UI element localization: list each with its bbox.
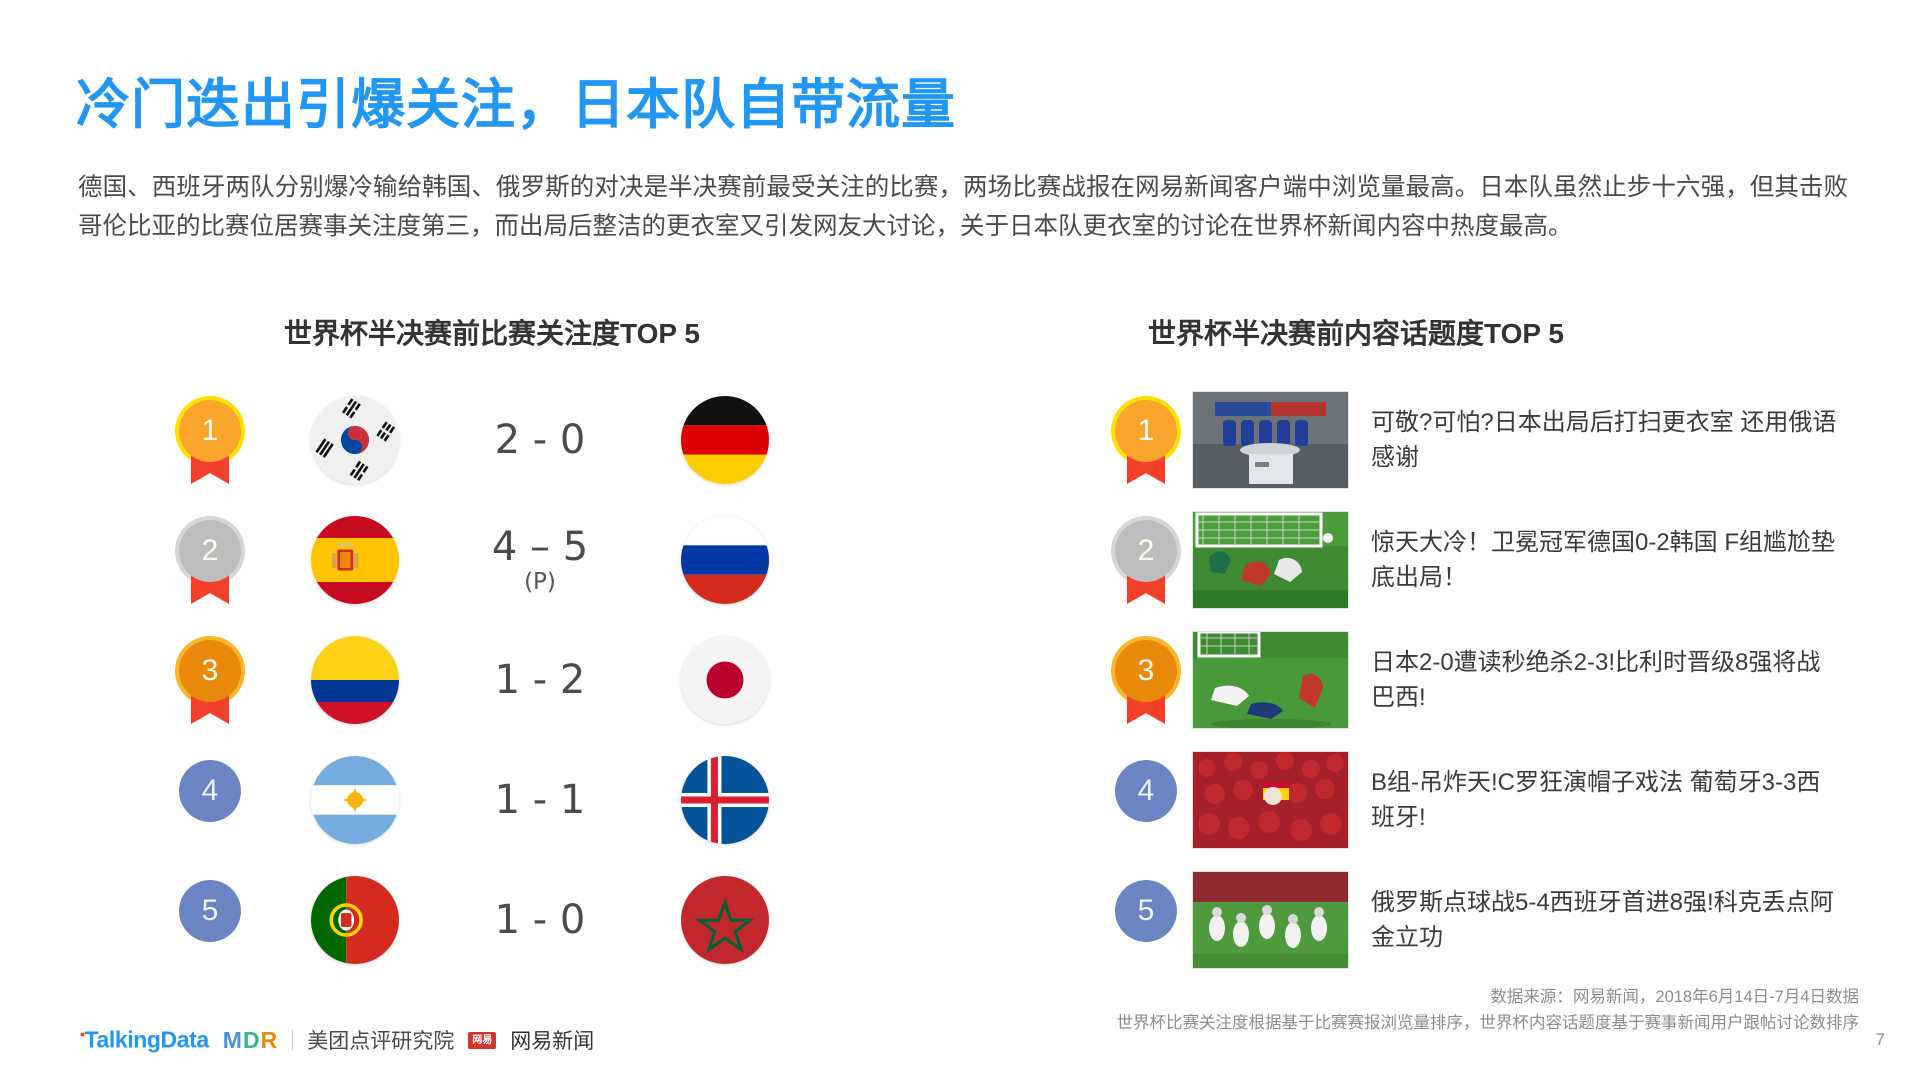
rank-cell: 3 (1100, 640, 1192, 720)
match-attention-list: 1 2 - 0 2 4 – 5(P) 3 1 - 2 4 (150, 380, 870, 980)
flag-iceland-icon (681, 756, 769, 844)
rank-cell: 4 (150, 760, 270, 840)
away-flag-cell (640, 396, 810, 484)
source-line-2: 世界杯比赛关注度根据基于比赛赛报浏览量排序，世界杯内容话题度基于赛事新闻用户跟帖… (1117, 1010, 1860, 1036)
news-headline[interactable]: 惊天大冷！卫冕冠军德国0-2韩国 F组尴尬垫底出局！ (1371, 525, 1841, 595)
rank-medal-5: 5 (179, 880, 241, 960)
home-flag-cell (270, 516, 440, 604)
rank-cell: 5 (150, 880, 270, 960)
news-thumbnail[interactable] (1192, 871, 1349, 969)
list-item[interactable]: 1 可敬?可怕?日本出局后打扫更衣室 还用俄语感谢 (1100, 380, 1890, 500)
match-score: 4 – 5(P) (440, 525, 640, 595)
match-score: 2 - 0 (440, 418, 640, 462)
left-column-title: 世界杯半决赛前比赛关注度TOP 5 (284, 312, 700, 352)
medal-rank-number: 5 (179, 880, 241, 942)
away-flag-cell (640, 636, 810, 724)
rank-medal-5: 5 (1115, 880, 1177, 960)
data-source-note: 数据来源：网易新闻，2018年6月14日-7月4日数据 世界杯比赛关注度根据基于… (1117, 984, 1860, 1036)
table-row: 5 1 - 0 (150, 860, 870, 980)
away-flag-cell (640, 756, 810, 844)
medal-rank-number: 3 (179, 640, 241, 702)
rank-medal-4: 4 (1115, 760, 1177, 840)
medal-rank-number: 3 (1115, 640, 1177, 702)
match-score: 1 - 0 (440, 898, 640, 942)
page-title: 冷门迭出引爆关注，日本队自带流量 (76, 60, 956, 139)
talkingdata-logo: •TalkingData (80, 1026, 209, 1054)
netease-mark-icon: 网易 (468, 1032, 496, 1049)
score-note: (P) (440, 569, 640, 595)
mdr-logo: MDR (223, 1027, 278, 1054)
rank-medal-2: 2 (1115, 520, 1177, 600)
home-flag-cell (270, 396, 440, 484)
page-number: 7 (1876, 1030, 1885, 1050)
news-headline[interactable]: 日本2-0遭读秒绝杀2-3!比利时晋级8强将战巴西! (1371, 645, 1841, 715)
flag-germany-icon (681, 396, 769, 484)
flag-morocco-icon (681, 876, 769, 964)
home-flag-cell (270, 876, 440, 964)
slide: 冷门迭出引爆关注，日本队自带流量 德国、西班牙两队分别爆冷输给韩国、俄罗斯的对决… (0, 0, 1921, 1080)
match-score: 1 - 2 (440, 658, 640, 702)
medal-rank-number: 4 (179, 760, 241, 822)
netease-news-logo: 网易新闻 (510, 1025, 594, 1055)
home-flag-cell (270, 756, 440, 844)
match-score: 1 - 1 (440, 778, 640, 822)
rank-medal-3: 3 (1115, 640, 1177, 720)
news-headline[interactable]: 可敬?可怕?日本出局后打扫更衣室 还用俄语感谢 (1371, 405, 1841, 475)
rank-medal-3: 3 (179, 640, 241, 720)
flag-south-korea-icon (311, 396, 399, 484)
footer-logos: •TalkingData MDR 美团点评研究院 网易 网易新闻 (80, 1025, 594, 1055)
flag-spain-icon (311, 516, 399, 604)
flag-russia-icon (681, 516, 769, 604)
rank-medal-1: 1 (1115, 400, 1177, 480)
rank-medal-2: 2 (179, 520, 241, 600)
rank-medal-1: 1 (179, 400, 241, 480)
table-row: 2 4 – 5(P) (150, 500, 870, 620)
news-thumbnail[interactable] (1192, 751, 1349, 849)
medal-rank-number: 4 (1115, 760, 1177, 822)
lede-paragraph: 德国、西班牙两队分别爆冷输给韩国、俄罗斯的对决是半决赛前最受关注的比赛，两场比赛… (78, 168, 1848, 246)
rank-cell: 4 (1100, 760, 1192, 840)
list-item[interactable]: 5 俄罗斯点球战5-4西班牙首进8强!科克丢点阿金立功 (1100, 860, 1890, 980)
rank-cell: 1 (1100, 400, 1192, 480)
right-column-title: 世界杯半决赛前内容话题度TOP 5 (1148, 312, 1564, 352)
away-flag-cell (640, 876, 810, 964)
news-thumbnail[interactable] (1192, 511, 1349, 609)
list-item[interactable]: 4 B组-吊炸天!C罗狂演帽子戏法 葡萄牙3-3西班牙! (1100, 740, 1890, 860)
flag-japan-icon (681, 636, 769, 724)
medal-rank-number: 1 (179, 400, 241, 462)
news-topic-list: 1 可敬?可怕?日本出局后打扫更衣室 还用俄语感谢2 惊天大冷！卫冕冠军德国0-… (1100, 380, 1890, 980)
rank-cell: 3 (150, 640, 270, 720)
news-thumbnail[interactable] (1192, 391, 1349, 489)
flag-argentina-icon (311, 756, 399, 844)
flag-portugal-icon (311, 876, 399, 964)
rank-cell: 1 (150, 400, 270, 480)
list-item[interactable]: 3 日本2-0遭读秒绝杀2-3!比利时晋级8强将战巴西! (1100, 620, 1890, 740)
logo-divider (292, 1030, 293, 1050)
news-headline[interactable]: B组-吊炸天!C罗狂演帽子戏法 葡萄牙3-3西班牙! (1371, 765, 1841, 835)
medal-rank-number: 5 (1115, 880, 1177, 942)
meituan-research-logo: 美团点评研究院 (307, 1025, 454, 1055)
medal-rank-number: 2 (1115, 520, 1177, 582)
source-line-1: 数据来源：网易新闻，2018年6月14日-7月4日数据 (1117, 984, 1860, 1010)
news-headline[interactable]: 俄罗斯点球战5-4西班牙首进8强!科克丢点阿金立功 (1371, 885, 1841, 955)
news-thumbnail[interactable] (1192, 631, 1349, 729)
rank-medal-4: 4 (179, 760, 241, 840)
rank-cell: 2 (150, 520, 270, 600)
list-item[interactable]: 2 惊天大冷！卫冕冠军德国0-2韩国 F组尴尬垫底出局！ (1100, 500, 1890, 620)
rank-cell: 2 (1100, 520, 1192, 600)
medal-rank-number: 2 (179, 520, 241, 582)
rank-cell: 5 (1100, 880, 1192, 960)
home-flag-cell (270, 636, 440, 724)
table-row: 1 2 - 0 (150, 380, 870, 500)
medal-rank-number: 1 (1115, 400, 1177, 462)
away-flag-cell (640, 516, 810, 604)
table-row: 3 1 - 2 (150, 620, 870, 740)
table-row: 4 1 - 1 (150, 740, 870, 860)
flag-colombia-icon (311, 636, 399, 724)
